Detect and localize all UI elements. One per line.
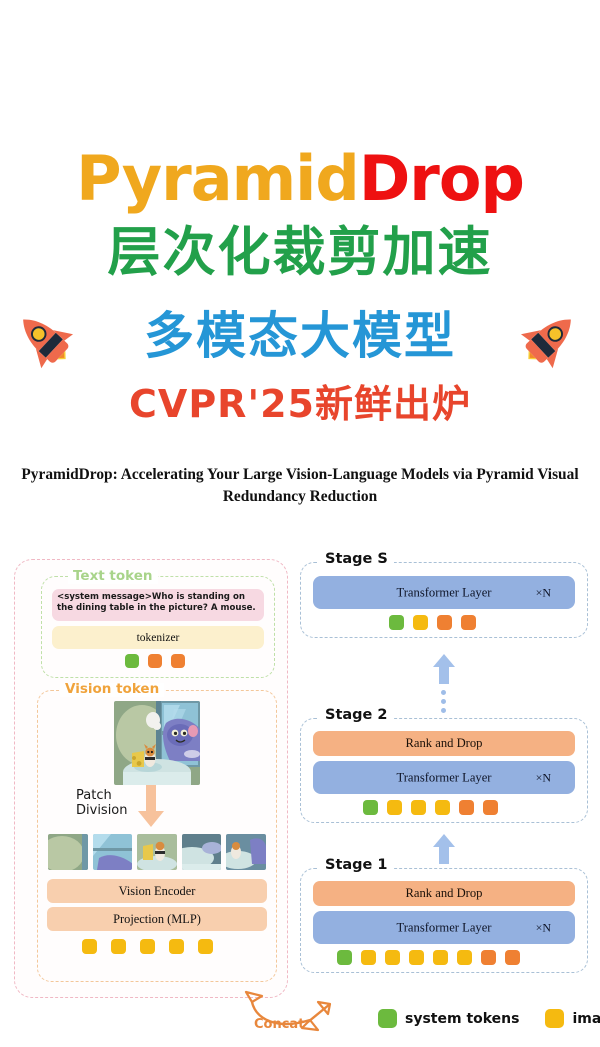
token-square <box>361 950 376 965</box>
poster-hero: PyramidDrop 层次化裁剪加速 多模态大模型 CVPR'25新鲜出炉 <box>0 0 600 455</box>
legend-swatch-green <box>378 1009 397 1028</box>
repeat-count-label: ×N <box>536 920 551 935</box>
vision-token-label: Vision token <box>60 683 164 697</box>
poster-subtitle-green: 层次化裁剪加速 <box>0 225 600 281</box>
vision-token-group: Vision token <box>37 690 277 982</box>
legend-label: image <box>572 1011 600 1027</box>
image-patch <box>182 834 222 870</box>
text-token-squares <box>125 654 185 668</box>
text-token-label: Text token <box>68 570 158 584</box>
legend-item-system-tokens: system tokens <box>378 1009 519 1028</box>
tokenizer-block: tokenizer <box>52 626 264 649</box>
transformer-layer-block: Transformer Layer ×N <box>313 761 575 794</box>
image-patch-row <box>48 834 266 870</box>
image-patch <box>226 834 266 870</box>
up-arrow-icon <box>433 654 455 684</box>
token-square <box>140 939 155 954</box>
up-arrow-icon <box>433 834 455 864</box>
token-legend: system tokens image <box>378 1009 600 1028</box>
legend-label: system tokens <box>405 1011 519 1027</box>
concat-arrow-icon: Concat <box>244 986 354 1042</box>
token-square <box>387 800 402 815</box>
image-patch <box>48 834 88 870</box>
token-square <box>125 654 139 668</box>
ellipsis-dots-icon <box>441 690 446 713</box>
poster-subtitle-blue: 多模态大模型 <box>0 310 600 363</box>
token-square <box>483 800 498 815</box>
transformer-layer-block: Transformer Layer ×N <box>313 911 575 944</box>
token-square <box>389 615 404 630</box>
token-square <box>435 800 450 815</box>
transformer-layer-block: Transformer Layer ×N <box>313 576 575 609</box>
vision-encoder-block: Vision Encoder <box>47 879 267 903</box>
token-square <box>411 800 426 815</box>
image-patch <box>93 834 133 870</box>
poster-venue-tagline: CVPR'25新鲜出炉 <box>0 385 600 423</box>
token-square <box>337 950 352 965</box>
token-square <box>198 939 213 954</box>
token-square <box>459 800 474 815</box>
token-square <box>481 950 496 965</box>
token-square <box>413 615 428 630</box>
token-square <box>409 950 424 965</box>
token-square <box>171 654 185 668</box>
token-square <box>457 950 472 965</box>
token-square <box>169 939 184 954</box>
projection-mlp-block: Projection (MLP) <box>47 907 267 931</box>
stage-s-token-row <box>389 615 476 630</box>
legend-swatch-yellow <box>545 1009 564 1028</box>
text-token-group: Text token <system message>Who is standi… <box>41 576 275 678</box>
concat-label: Concat <box>254 1018 304 1031</box>
stage-1-token-row <box>337 950 520 965</box>
poster-root: PyramidDrop 层次化裁剪加速 多模态大模型 CVPR'25新鲜出炉 P… <box>0 0 600 1042</box>
poster-brand-title: PyramidDrop <box>0 148 600 210</box>
architecture-diagram: Text token <system message>Who is standi… <box>0 548 600 1042</box>
input-tokens-panel: Text token <system message>Who is standi… <box>14 559 288 998</box>
token-square <box>461 615 476 630</box>
token-square <box>385 950 400 965</box>
stage-2-token-row <box>363 800 498 815</box>
repeat-count-label: ×N <box>536 585 551 600</box>
patch-division-label: PatchDivision <box>76 789 128 818</box>
brand-drop: Drop <box>359 142 524 215</box>
rank-and-drop-block: Rank and Drop <box>313 731 575 756</box>
vision-token-squares <box>82 939 213 954</box>
image-patch <box>137 834 177 870</box>
stage-s-label: Stage S <box>319 552 394 567</box>
repeat-count-label: ×N <box>536 770 551 785</box>
stage-2-container: Stage 2 Rank and Drop Transformer Layer … <box>300 718 588 823</box>
stage-1-label: Stage 1 <box>319 858 394 873</box>
down-arrow-icon <box>138 785 164 827</box>
stage-2-label: Stage 2 <box>319 708 394 723</box>
paper-title: PyramidDrop: Accelerating Your Large Vis… <box>8 464 592 508</box>
rank-and-drop-block: Rank and Drop <box>313 881 575 906</box>
brand-pyramid: Pyramid <box>76 142 359 215</box>
stage-1-container: Stage 1 Rank and Drop Transformer Layer … <box>300 868 588 973</box>
token-square <box>148 654 162 668</box>
token-square <box>82 939 97 954</box>
token-square <box>111 939 126 954</box>
stage-s-container: Stage S Transformer Layer ×N <box>300 562 588 638</box>
token-square <box>437 615 452 630</box>
token-square <box>505 950 520 965</box>
token-square <box>363 800 378 815</box>
legend-item-image-tokens: image <box>545 1009 600 1028</box>
source-image-thumbnail <box>114 701 200 785</box>
system-message-text: <system message>Who is standing on the d… <box>52 589 264 621</box>
token-square <box>433 950 448 965</box>
